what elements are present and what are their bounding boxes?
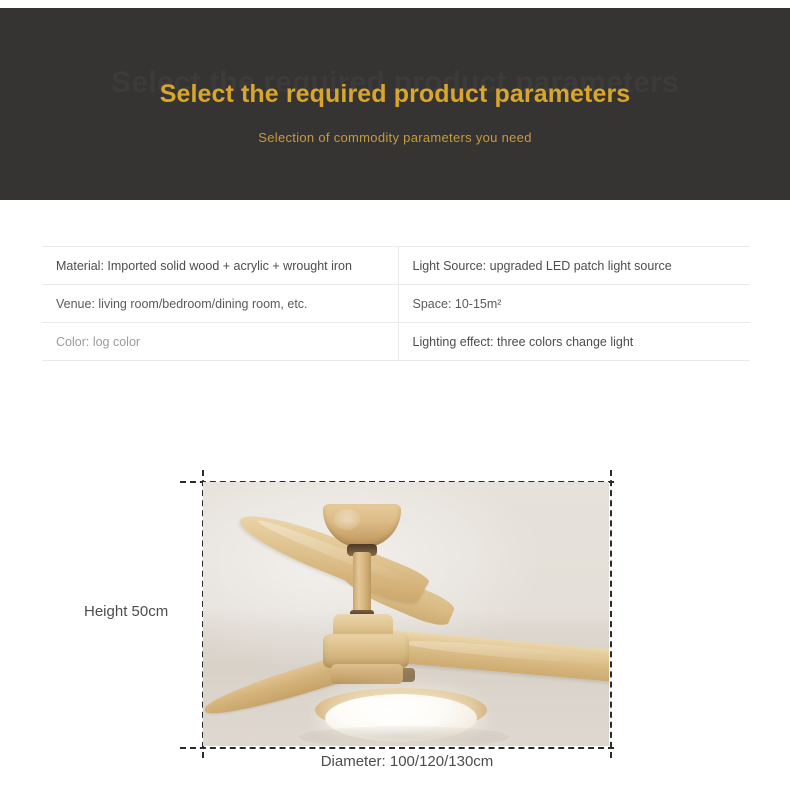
page-title: Select the required product parameters <box>0 80 790 109</box>
product-photo <box>203 482 609 746</box>
fan-downrod <box>353 552 371 614</box>
diameter-dimension-label: Diameter: 100/120/130cm <box>202 753 612 770</box>
hero-banner: Select the required product parameters S… <box>0 8 790 200</box>
spec-cell-material: Material: Imported solid wood + acrylic … <box>42 247 398 285</box>
table-row: Color: log color Lighting effect: three … <box>42 323 750 361</box>
guide-line-right <box>610 470 612 758</box>
spec-table-container: Material: Imported solid wood + acrylic … <box>42 246 750 361</box>
top-spacer <box>0 0 790 8</box>
page-subtitle: Selection of commodity parameters you ne… <box>0 130 790 145</box>
spec-cell-venue: Venue: living room/bedroom/dining room, … <box>42 285 398 323</box>
height-dimension-label: Height 50cm <box>84 603 168 620</box>
motor-housing-bottom <box>331 664 403 684</box>
spec-table: Material: Imported solid wood + acrylic … <box>42 246 750 361</box>
table-row: Material: Imported solid wood + acrylic … <box>42 247 750 285</box>
fixture-cast-shadow <box>299 726 509 746</box>
table-row: Venue: living room/bedroom/dining room, … <box>42 285 750 323</box>
motor-housing-middle <box>323 634 409 668</box>
product-dimension-figure: Height 50cm Diameter: 100/120/130cm <box>0 470 790 780</box>
spec-cell-space: Space: 10-15m² <box>398 285 750 323</box>
spec-cell-light-source: Light Source: upgraded LED patch light s… <box>398 247 750 285</box>
spec-cell-lighting-effect: Lighting effect: three colors change lig… <box>398 323 750 361</box>
spec-cell-color: Color: log color <box>42 323 398 361</box>
background-watermark <box>40 392 750 444</box>
guide-line-bottom <box>180 747 614 749</box>
